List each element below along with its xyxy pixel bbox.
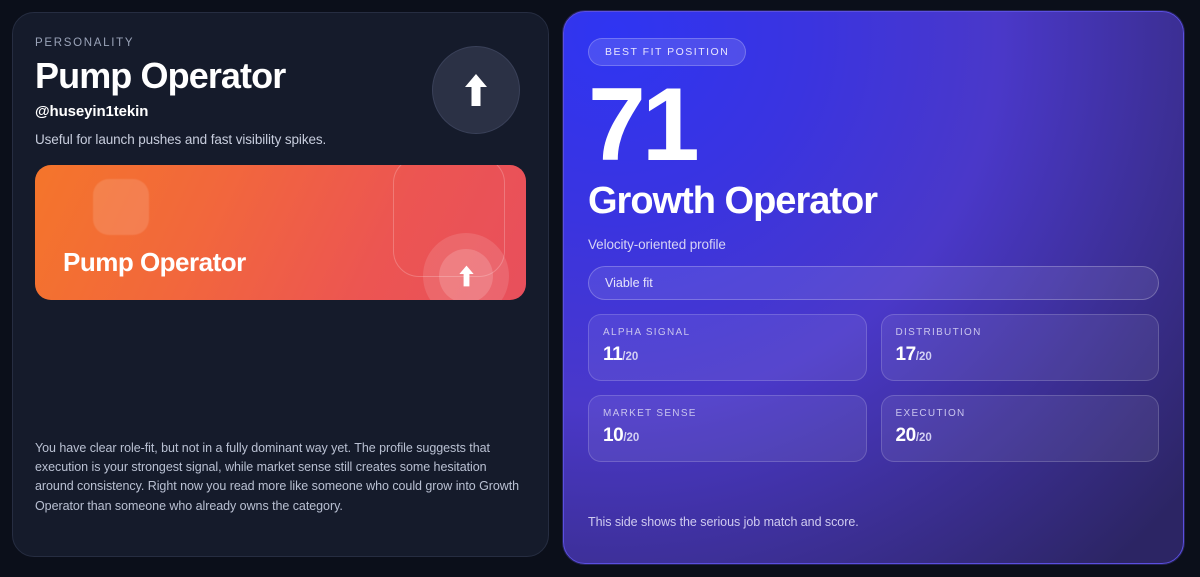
personality-gradient-card: Pump Operator [35,165,526,300]
stat-value: 20/20 [896,425,1145,447]
arrow-up-icon [458,265,475,287]
stat-number: 20 [896,425,916,446]
stat-label: EXECUTION [896,408,1145,419]
role-title: Growth Operator [588,180,1159,223]
best-fit-footnote: This side shows the serious job match an… [588,515,1159,543]
arrow-up-icon [463,73,489,107]
best-fit-panel: BEST FIT POSITION 71 Growth Operator Vel… [563,11,1184,564]
fit-level-bar: Viable fit [588,266,1159,300]
app-root: PERSONALITY Pump Operator @huseyin1tekin… [0,0,1200,577]
stat-card: EXECUTION 20/20 [881,395,1160,462]
status-badge: BEST FIT POSITION [588,38,746,66]
stat-label: DISTRIBUTION [896,327,1145,338]
stat-value: 17/20 [896,344,1145,366]
stat-card: MARKET SENSE 10/20 [588,395,867,462]
stat-denominator: /20 [916,432,932,444]
stat-number: 10 [603,425,623,446]
stat-number: 17 [896,344,916,365]
personality-subtitle: Useful for launch pushes and fast visibi… [35,132,526,147]
decorative-square-icon [93,179,149,235]
personality-panel: PERSONALITY Pump Operator @huseyin1tekin… [12,12,549,557]
fit-level-label: Viable fit [605,276,653,290]
personality-eyebrow: PERSONALITY [35,37,526,49]
stat-denominator: /20 [623,432,639,444]
stat-label: MARKET SENSE [603,408,852,419]
stat-number: 11 [603,344,622,365]
stat-grid: ALPHA SIGNAL 11/20 DISTRIBUTION 17/20 MA… [588,314,1159,462]
stat-card: DISTRIBUTION 17/20 [881,314,1160,381]
stat-card: ALPHA SIGNAL 11/20 [588,314,867,381]
stat-value: 11/20 [603,344,852,366]
stat-value: 10/20 [603,425,852,447]
arrow-up-badge [432,46,520,134]
stat-denominator: /20 [916,351,932,363]
role-subtitle: Velocity-oriented profile [588,237,1159,252]
stat-denominator: /20 [622,351,638,363]
stat-label: ALPHA SIGNAL [603,327,852,338]
gradient-card-arrow-badge [439,249,493,300]
gradient-card-title: Pump Operator [63,247,246,278]
fit-score: 71 [588,78,1159,174]
personality-summary-text: You have clear role-fit, but not in a fu… [35,439,526,539]
